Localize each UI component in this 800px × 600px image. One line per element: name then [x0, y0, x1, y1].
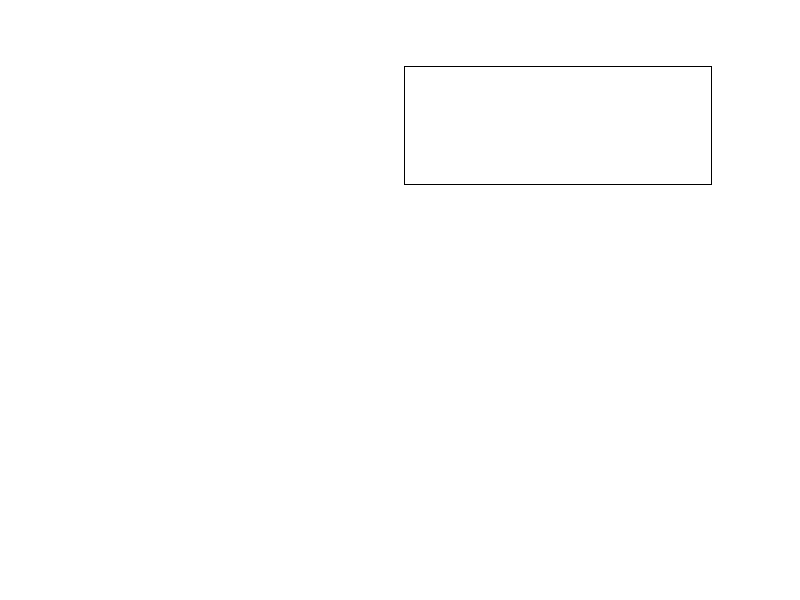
legend — [404, 66, 712, 185]
figure-canvas — [0, 0, 800, 600]
